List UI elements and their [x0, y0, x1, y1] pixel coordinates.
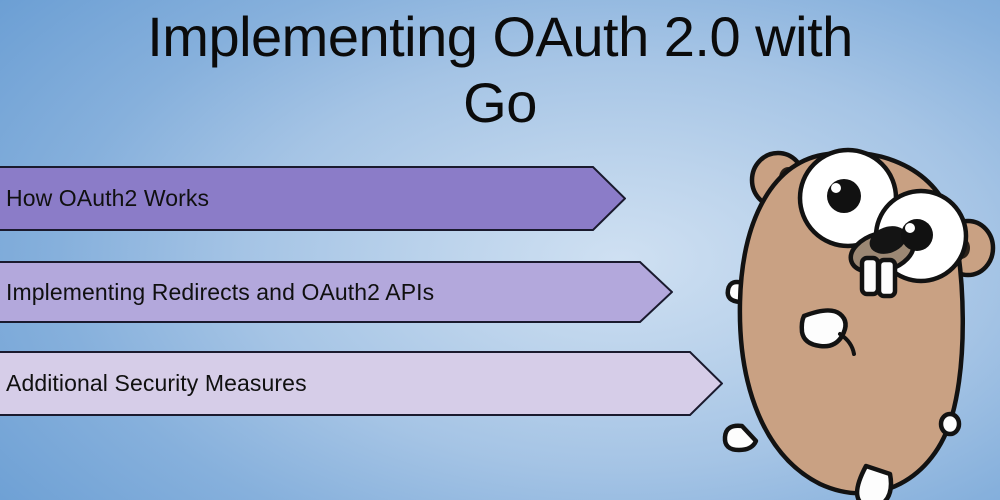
chevron-banner-1[interactable]: How OAuth2 Works	[0, 166, 626, 231]
chevron-banner-2-label: Implementing Redirects and OAuth2 APIs	[6, 279, 434, 306]
slide-canvas: Implementing OAuth 2.0 with Go How OAuth…	[0, 0, 1000, 500]
chevron-banner-2[interactable]: Implementing Redirects and OAuth2 APIs	[0, 261, 673, 323]
page-title: Implementing OAuth 2.0 with Go	[0, 4, 1000, 135]
chevron-banner-1-label: How OAuth2 Works	[6, 185, 209, 212]
go-gopher-mascot-icon	[716, 136, 1000, 500]
chevron-banner-3[interactable]: Additional Security Measures	[0, 351, 723, 416]
chevron-banner-3-label: Additional Security Measures	[6, 370, 307, 397]
